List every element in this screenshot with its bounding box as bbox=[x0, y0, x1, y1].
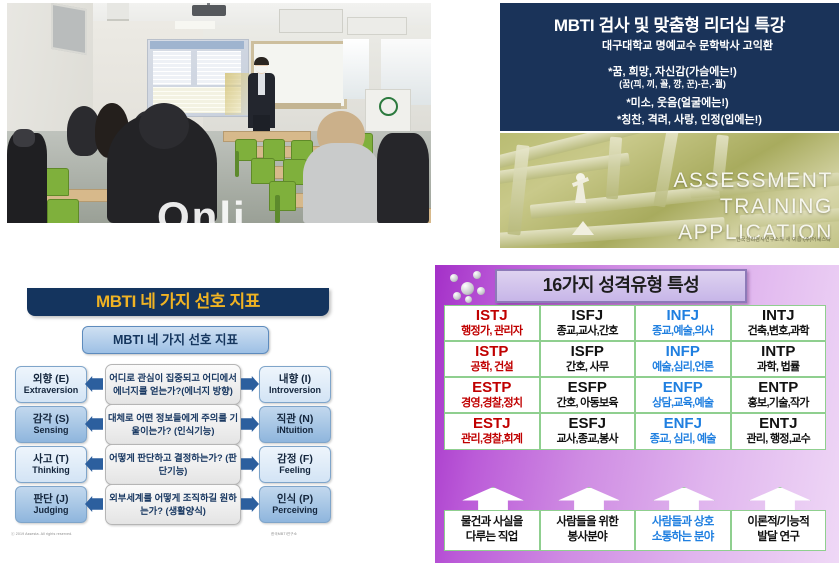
label-en: iNtuition bbox=[277, 425, 314, 435]
type-cell-infj: INFJ 종교,예술,의사 bbox=[635, 305, 731, 341]
mbti-subtitle-box: MBTI 네 가지 선호 지표 bbox=[82, 326, 269, 354]
summary-cell-service: 사람들을 위한 봉사분야 bbox=[540, 510, 636, 551]
question-text: 어떻게 판단하고 결정하는가? (판단기능) bbox=[106, 452, 240, 477]
type-cell-isfj: ISFJ 종교,교사,간호 bbox=[540, 305, 636, 341]
type-code: ISFP bbox=[541, 344, 635, 361]
label-ko: 사고 (T) bbox=[33, 453, 69, 465]
preference-row: 외향 (E) Extraversion 어디로 관심이 집중되고 어디에서 에너… bbox=[7, 364, 337, 403]
type-cell-esfp: ESFP 간호, 아동보육 bbox=[540, 377, 636, 413]
mbti-header-text: MBTI 네 가지 선호 지표 bbox=[27, 288, 329, 316]
arrow-right-icon bbox=[241, 496, 259, 512]
summary-cell-theory-research: 이론적/기능적 발달 연구 bbox=[731, 510, 827, 551]
preference-left-sensing: 감각 (S) Sensing bbox=[15, 406, 87, 443]
preference-left-extraversion: 외향 (E) Extraversion bbox=[15, 366, 87, 403]
mbti-preference-diagram: MBTI 네 가지 선호 지표 MBTI 네 가지 선호 지표 외향 (E) E… bbox=[7, 280, 337, 565]
types-header-text: 16가지 성격유형 특성 bbox=[497, 271, 745, 299]
label-ko: 내향 (I) bbox=[279, 373, 311, 385]
table-row: ISTJ 행정가, 관리자 ISFJ 종교,교사,간호 INFJ 종교,예술,의… bbox=[444, 305, 826, 341]
label-en: Sensing bbox=[33, 425, 68, 435]
wall-picture-frame bbox=[51, 3, 87, 55]
type-jobs: 경영,경찰,정치 bbox=[445, 397, 539, 410]
type-cell-intj: INTJ 건축,변호,과학 bbox=[731, 305, 827, 341]
table-row: ISTP 공학, 건설 ISFP 간호, 사무 INFP 예술,심리,언론 IN… bbox=[444, 341, 826, 377]
mbti-subtitle-text: MBTI 네 가지 선호 지표 bbox=[83, 327, 268, 353]
preference-question-lifestyle: 외부세계를 어떻게 조직하길 원하는가? (생활양식) bbox=[105, 484, 241, 525]
label-en: Perceiving bbox=[272, 505, 318, 515]
type-jobs: 종교, 심리, 예술 bbox=[636, 433, 730, 446]
question-text: 대체로 어떤 정보들에게 주의를 기울이는가? (인식기능) bbox=[106, 412, 240, 437]
label-ko: 감각 (S) bbox=[33, 413, 69, 425]
type-jobs: 예술,심리,언론 bbox=[636, 361, 730, 374]
label-en: Extraversion bbox=[24, 385, 79, 395]
photo-watermark-text: Onli bbox=[157, 193, 247, 223]
types-header-box: 16가지 성격유형 특성 bbox=[495, 269, 747, 303]
type-code: ESTP bbox=[445, 380, 539, 397]
type-jobs: 행정가, 관리자 bbox=[445, 325, 539, 338]
label-en: Feeling bbox=[279, 465, 311, 475]
type-jobs: 홍보,기술,작가 bbox=[732, 397, 826, 410]
type-code: ENTP bbox=[732, 380, 826, 397]
slide-bullet-2: *미소, 웃음(얼굴에는!) bbox=[500, 94, 839, 110]
type-code: ENTJ bbox=[732, 416, 826, 433]
type-cell-estj: ESTJ 관리,경찰,회계 bbox=[444, 413, 540, 449]
type-cell-entp: ENTP 홍보,기술,작가 bbox=[731, 377, 827, 413]
preference-left-judging: 판단 (J) Judging bbox=[15, 486, 87, 523]
type-cell-isfp: ISFP 간호, 사무 bbox=[540, 341, 636, 377]
label-en: Thinking bbox=[32, 465, 70, 475]
preference-question-judging-function: 어떻게 판단하고 결정하는가? (판단기능) bbox=[105, 444, 241, 485]
label-en: Judging bbox=[34, 505, 69, 515]
type-jobs: 간호, 사무 bbox=[541, 361, 635, 374]
student-cap bbox=[13, 129, 35, 147]
type-cell-entj: ENTJ 관리, 행정,교수 bbox=[731, 413, 827, 449]
slide-heading: MBTI 검사 및 맞춤형 리더십 특강 bbox=[500, 11, 839, 36]
type-jobs: 교사,종교,봉사 bbox=[541, 433, 635, 446]
slide-bullet-1-sub: (꿈(끠, 끼, 꼴, 깡, 꾼)-끈,-꿜) bbox=[500, 77, 839, 90]
podium-emblem bbox=[379, 97, 398, 116]
summary-cell-things-facts: 물건과 사실을 다루는 직업 bbox=[444, 510, 540, 551]
label-ko: 외향 (E) bbox=[33, 373, 69, 385]
preference-left-thinking: 사고 (T) Thinking bbox=[15, 446, 87, 483]
preference-row: 사고 (T) Thinking 어떻게 판단하고 결정하는가? (판단기능) 감… bbox=[7, 444, 337, 483]
type-jobs: 관리,경찰,회계 bbox=[445, 433, 539, 446]
type-cell-istp: ISTP 공학, 건설 bbox=[444, 341, 540, 377]
summary-cell-communication: 사람들과 상호 소통하는 분야 bbox=[635, 510, 731, 551]
type-cell-istj: ISTJ 행정가, 관리자 bbox=[444, 305, 540, 341]
summary-line-1: 사람들과 상호 bbox=[636, 515, 730, 530]
type-cell-estp: ESTP 경영,경찰,정치 bbox=[444, 377, 540, 413]
type-cell-infp: INFP 예술,심리,언론 bbox=[635, 341, 731, 377]
assessment-credit: 한국심리검사연구소의 새 이름 (주)어세스타 bbox=[736, 236, 831, 243]
summary-line-1: 사람들을 위한 bbox=[541, 515, 635, 530]
arrow-left-icon bbox=[85, 376, 103, 392]
slide-glow bbox=[225, 73, 249, 115]
preference-row: 판단 (J) Judging 외부세계를 어떻게 조직하길 원하는가? (생활양… bbox=[7, 484, 337, 523]
preference-right-perceiving: 인식 (P) Perceiving bbox=[259, 486, 331, 523]
slide-header-band bbox=[150, 41, 244, 49]
arrow-left-icon bbox=[85, 416, 103, 432]
title-slide: MBTI 검사 및 맞춤형 리더십 특강 대구대학교 명예교수 문학박사 고익환… bbox=[500, 3, 839, 131]
sixteen-types-slide: 16가지 성격유형 특성 ISTJ 행정가, 관리자 ISFJ 종교,교사,간호… bbox=[435, 265, 839, 563]
label-ko: 인식 (P) bbox=[277, 493, 313, 505]
type-cell-enfp: ENFP 상담,교육,예술 bbox=[635, 377, 731, 413]
summary-line-2: 소통하는 분야 bbox=[636, 530, 730, 545]
mbti-footer-left: ⓒ 2019 Assesta. All rights reserved. bbox=[11, 532, 72, 537]
assessment-line-2: TRAINING bbox=[720, 195, 833, 219]
summary-line-2: 봉사분야 bbox=[541, 530, 635, 545]
type-code: ESFJ bbox=[541, 416, 635, 433]
type-jobs: 종교,예술,의사 bbox=[636, 325, 730, 338]
label-en: Introversion bbox=[269, 385, 321, 395]
type-code: ISTJ bbox=[445, 308, 539, 325]
type-code: ESFP bbox=[541, 380, 635, 397]
summary-row: 물건과 사실을 다루는 직업 사람들을 위한 봉사분야 사람들과 상호 소통하는… bbox=[444, 510, 826, 551]
label-ko: 직관 (N) bbox=[277, 413, 314, 425]
maze-wall bbox=[606, 137, 622, 200]
type-code: ESTJ bbox=[445, 416, 539, 433]
type-jobs: 건축,변호,과학 bbox=[732, 325, 826, 338]
ceiling-lamp bbox=[175, 21, 215, 29]
table-row: ESTJ 관리,경찰,회계 ESFJ 교사,종교,봉사 ENFJ 종교, 심리,… bbox=[444, 413, 826, 449]
classroom-photo: Onli bbox=[7, 3, 431, 223]
summary-line-2: 다루는 직업 bbox=[445, 530, 539, 545]
student-right bbox=[303, 143, 381, 223]
arrow-left-icon bbox=[85, 456, 103, 472]
slide-presenter: 대구대학교 명예교수 문학박사 고익환 bbox=[500, 37, 839, 53]
assessment-maze-image: ASSESSMENT TRAINING APPLICATION 한국심리검사연구… bbox=[500, 133, 839, 248]
type-jobs: 관리, 행정,교수 bbox=[732, 433, 826, 446]
air-conditioner-vent-2 bbox=[347, 17, 407, 35]
preference-row: 감각 (S) Sensing 대체로 어떤 정보들에게 주의를 기울이는가? (… bbox=[7, 404, 337, 443]
summary-line-1: 물건과 사실을 bbox=[445, 515, 539, 530]
type-code: ENFJ bbox=[636, 416, 730, 433]
label-ko: 판단 (J) bbox=[33, 493, 68, 505]
type-cell-esfj: ESFJ 교사,종교,봉사 bbox=[540, 413, 636, 449]
assessment-line-1: ASSESSMENT bbox=[673, 169, 833, 193]
type-code: INTP bbox=[732, 344, 826, 361]
type-cell-enfj: ENFJ 종교, 심리, 예술 bbox=[635, 413, 731, 449]
type-cell-intp: INTP 과학, 법률 bbox=[731, 341, 827, 377]
mbti-header-banner: MBTI 네 가지 선호 지표 bbox=[27, 288, 329, 316]
arrow-right-icon bbox=[241, 416, 259, 432]
arrow-right-icon bbox=[241, 376, 259, 392]
student-hood bbox=[139, 103, 189, 149]
type-jobs: 종교,교사,간호 bbox=[541, 325, 635, 338]
type-code: ISTP bbox=[445, 344, 539, 361]
arrow-right-icon bbox=[241, 456, 259, 472]
student-far-right bbox=[377, 133, 429, 223]
ceiling-speaker bbox=[107, 3, 129, 21]
chair-leg bbox=[275, 195, 280, 223]
question-text: 어디로 관심이 집중되고 어디에서 에너지를 얻는가?(에너지 방향) bbox=[106, 372, 240, 397]
chair bbox=[47, 199, 79, 223]
chair bbox=[269, 181, 296, 211]
mbti-footer-right: 한국MBTI연구소 bbox=[271, 532, 297, 537]
ceiling-projector bbox=[192, 5, 226, 16]
type-code: ISFJ bbox=[541, 308, 635, 325]
type-code: INFJ bbox=[636, 308, 730, 325]
air-conditioner-vent bbox=[279, 9, 343, 33]
type-code: INTJ bbox=[732, 308, 826, 325]
arrow-left-icon bbox=[85, 496, 103, 512]
summary-line-2: 발달 연구 bbox=[732, 530, 826, 545]
slide-bullet-3: *칭찬, 격려, 사랑, 인정(입에는!) bbox=[500, 111, 839, 127]
preference-question-energy: 어디로 관심이 집중되고 어디에서 에너지를 얻는가?(에너지 방향) bbox=[105, 364, 241, 405]
preference-right-feeling: 감정 (F) Feeling bbox=[259, 446, 331, 483]
chair-leg bbox=[235, 151, 239, 177]
summary-arrows bbox=[444, 487, 826, 511]
presenter-hair bbox=[254, 57, 269, 65]
label-ko: 감정 (F) bbox=[277, 453, 313, 465]
type-jobs: 과학, 법률 bbox=[732, 361, 826, 374]
preference-right-introversion: 내향 (I) Introversion bbox=[259, 366, 331, 403]
presenter-shirt bbox=[258, 73, 265, 95]
question-text: 외부세계를 어떻게 조직하길 원하는가? (생활양식) bbox=[106, 492, 240, 517]
summary-line-1: 이론적/기능적 bbox=[732, 515, 826, 530]
type-code: INFP bbox=[636, 344, 730, 361]
type-jobs: 간호, 아동보육 bbox=[541, 397, 635, 410]
slide-text-column-left bbox=[153, 51, 191, 85]
molecule-icon bbox=[449, 271, 485, 303]
table-row: ESTP 경영,경찰,정치 ESFP 간호, 아동보육 ENFP 상담,교육,예… bbox=[444, 377, 826, 413]
types-table: ISTJ 행정가, 관리자 ISFJ 종교,교사,간호 INFJ 종교,예술,의… bbox=[444, 305, 826, 450]
type-jobs: 상담,교육,예술 bbox=[636, 397, 730, 410]
preference-question-perceiving-function: 대체로 어떤 정보들에게 주의를 기울이는가? (인식기능) bbox=[105, 404, 241, 445]
preference-right-intuition: 직관 (N) iNtuition bbox=[259, 406, 331, 443]
type-jobs: 공학, 건설 bbox=[445, 361, 539, 374]
type-code: ENFP bbox=[636, 380, 730, 397]
